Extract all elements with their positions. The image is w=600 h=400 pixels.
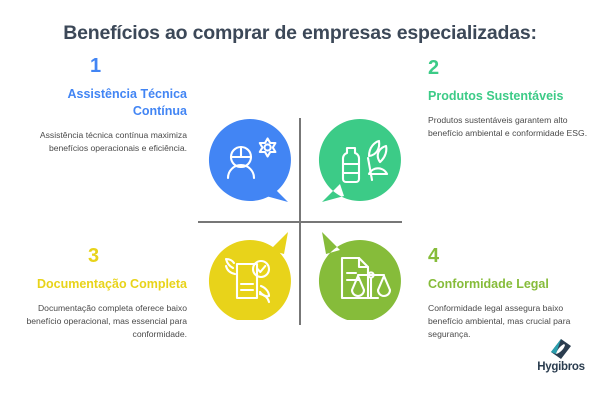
quadrant-4-heading: Conformidade Legal [428, 276, 593, 293]
divider-vertical [299, 118, 301, 325]
quadrant-2-bubble [314, 116, 406, 208]
quadrant-1-number: 1 [22, 55, 187, 77]
quadrant-1-text: 1 Assistência Técnica Contínua Assistênc… [22, 55, 187, 155]
quadrant-1-heading: Assistência Técnica Contínua [22, 86, 187, 120]
quadrant-2-heading: Produtos Sustentáveis [428, 88, 593, 105]
quadrant-4-text: 4 Conformidade Legal Conformidade legal … [428, 245, 593, 341]
hygibros-logo-icon [550, 338, 572, 360]
quadrant-1-bubble [204, 116, 296, 208]
quadrant-3-bubble [204, 228, 296, 320]
speech-bubble-shape [209, 232, 291, 320]
brand-logo-text: Hygibros [528, 361, 594, 373]
quadrant-2-body: Produtos sustentáveis garantem alto bene… [428, 114, 593, 140]
quadrant-3-body: Documentação completa oferece baixo bene… [22, 302, 187, 341]
quadrant-4-number: 4 [428, 245, 593, 267]
quadrant-2-number: 2 [428, 57, 593, 79]
quadrant-2-text: 2 Produtos Sustentáveis Produtos sustent… [428, 57, 593, 140]
quadrant-3-text: 3 Documentação Completa Documentação com… [22, 245, 187, 341]
quadrant-4-bubble [314, 228, 406, 320]
quadrant-3-number: 3 [22, 245, 187, 267]
page-title: Benefícios ao comprar de empresas especi… [0, 22, 600, 45]
brand-logo: Hygibros [528, 338, 594, 373]
quadrant-3-heading: Documentação Completa [22, 276, 187, 293]
quadrant-4-body: Conformidade legal assegura baixo benefí… [428, 302, 593, 341]
quadrant-1-body: Assistência técnica contínua maximiza be… [22, 129, 187, 155]
